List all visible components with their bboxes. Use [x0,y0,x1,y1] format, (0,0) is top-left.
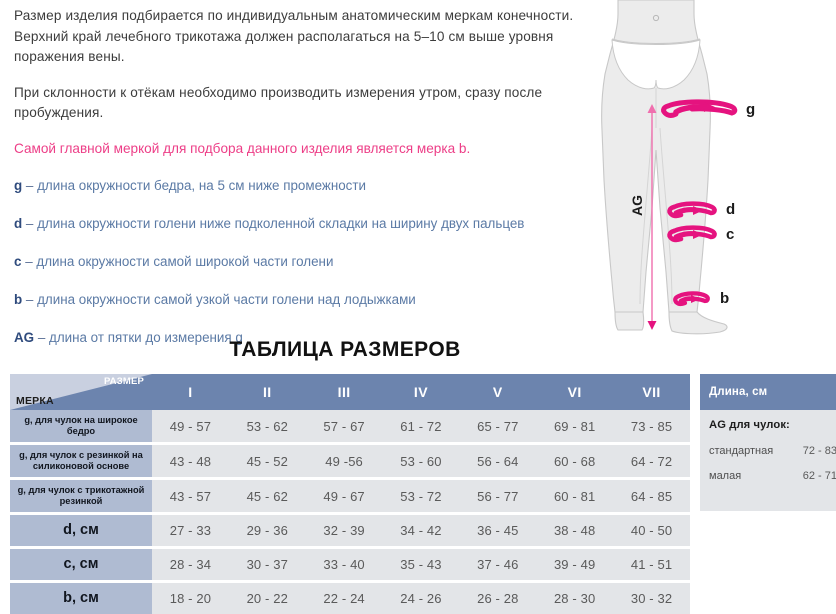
table-cell: 39 - 49 [536,549,613,580]
definition-key-g: g [14,178,22,193]
table-cell: 28 - 30 [536,583,613,614]
figure-label-c: c [726,226,734,243]
table-cell: 22 - 24 [306,583,383,614]
length-side-panel: Длина, см AG для чулок: стандартная 72 -… [700,374,836,511]
side-panel-title: AG для чулок: [709,419,836,431]
figure-label-b: b [720,290,729,307]
table-cell: 38 - 48 [536,515,613,546]
table-cell: 56 - 64 [459,445,536,477]
intro-paragraph-2: При склонности к отёкам необходимо произ… [14,83,614,124]
column-header-5: V [459,374,536,410]
side-panel-body: AG для чулок: стандартная 72 - 83 малая … [700,410,836,511]
corner-size-label: РАЗМЕР [104,376,144,387]
row-label: g, для чулок на широкое бедро [10,410,152,442]
table-cell: 37 - 46 [459,549,536,580]
table-cell: 69 - 81 [536,410,613,442]
column-header-2: II [229,374,306,410]
leg-measurement-diagram: g d c b AG [596,0,836,340]
definition-text-b: длина окружности самой узкой части голен… [37,292,416,307]
definition-dash-d: – [26,216,33,231]
side-row-value: 72 - 83 [803,445,836,457]
rear-foot-shape [615,312,644,330]
table-cell: 53 - 60 [383,445,460,477]
key-measurement-highlight: Самой главной меркой для подбора данного… [14,139,614,159]
definition-key-b: b [14,292,22,307]
table-row: g, для чулок с резинкой на силиконовой о… [10,445,690,477]
table-cell: 34 - 42 [383,515,460,546]
table-cell: 56 - 77 [459,480,536,512]
column-header-4: IV [383,374,460,410]
table-cell: 49 - 67 [306,480,383,512]
table-cell: 18 - 20 [152,583,229,614]
column-header-6: VI [536,374,613,410]
table-cell: 33 - 40 [306,549,383,580]
table-cell: 73 - 85 [613,410,690,442]
table-header-row: РАЗМЕР МЕРКА I II III IV V VI VII [10,374,690,410]
table-cell: 64 - 85 [613,480,690,512]
instructions-text-column: Размер изделия подбирается по индивидуал… [14,6,614,366]
table-cell: 57 - 67 [306,410,383,442]
table-row: c, см 28 - 34 30 - 37 33 - 40 35 - 43 37… [10,549,690,580]
table-cell: 60 - 81 [536,480,613,512]
column-header-1: I [152,374,229,410]
side-panel-header: Длина, см [700,374,836,410]
table-cell: 41 - 51 [613,549,690,580]
table-cell: 65 - 77 [459,410,536,442]
side-panel-row: малая 62 - 71 [709,470,836,482]
row-label: b, см [10,583,152,614]
definition-key-d: d [14,216,22,231]
definition-item-b: b – длина окружности самой узкой части г… [14,290,614,309]
table-cell: 40 - 50 [613,515,690,546]
figure-label-g: g [746,101,755,118]
table-cell: 32 - 39 [306,515,383,546]
definition-text-g: длина окружности бедра, на 5 см ниже про… [37,178,366,193]
table-cell: 45 - 52 [229,445,306,477]
table-cell: 45 - 62 [229,480,306,512]
definition-dash-g: – [26,178,33,193]
definition-dash-b: – [26,292,33,307]
table-cell: 64 - 72 [613,445,690,477]
table-row: d, см 27 - 33 29 - 36 32 - 39 34 - 42 36… [10,515,690,546]
table-cell: 43 - 48 [152,445,229,477]
body-silhouette [602,0,727,334]
table-cell: 26 - 28 [459,583,536,614]
row-label: g, для чулок с резинкой на силиконовой о… [10,445,152,477]
definition-dash-c: – [25,254,32,269]
table-cell: 35 - 43 [383,549,460,580]
table-cell: 28 - 34 [152,549,229,580]
definition-item-d: d – длина окружности голени ниже подколе… [14,214,614,233]
table-cell: 49 -56 [306,445,383,477]
table-cell: 53 - 62 [229,410,306,442]
definition-item-c: c – длина окружности самой широкой части… [14,252,614,271]
front-foot-shape [669,312,727,334]
table-cell: 53 - 72 [383,480,460,512]
table-cell: 30 - 37 [229,549,306,580]
definition-text-d: длина окружности голени ниже подколенной… [37,216,524,231]
figure-label-ag: AG [629,195,645,216]
intro-paragraph-1: Размер изделия подбирается по индивидуал… [14,6,614,68]
side-row-name: стандартная [709,445,773,457]
table-row: g, для чулок на широкое бедро 49 - 57 53… [10,410,690,442]
corner-measure-label: МЕРКА [16,395,54,407]
row-label: c, см [10,549,152,580]
column-header-3: III [306,374,383,410]
side-panel-row: стандартная 72 - 83 [709,445,836,457]
instructions-section: Размер изделия подбирается по индивидуал… [0,0,836,336]
table-cell: 49 - 57 [152,410,229,442]
table-row: g, для чулок с трикотажной резинкой 43 -… [10,480,690,512]
figure-label-d: d [726,201,735,218]
table-cell: 43 - 57 [152,480,229,512]
table-cell: 29 - 36 [229,515,306,546]
side-row-value: 62 - 71 [803,470,836,482]
size-table-title: ТАБЛИЦА РАЗМЕРОВ [0,338,690,362]
table-corner-header: РАЗМЕР МЕРКА [10,374,152,410]
table-cell: 60 - 68 [536,445,613,477]
table-cell: 36 - 45 [459,515,536,546]
table-cell: 24 - 26 [383,583,460,614]
table-cell: 27 - 33 [152,515,229,546]
size-table: РАЗМЕР МЕРКА I II III IV V VI VII g, для… [10,374,690,614]
table-cell: 61 - 72 [383,410,460,442]
row-label: d, см [10,515,152,546]
column-header-7: VII [613,374,690,410]
side-row-name: малая [709,470,741,482]
definition-text-c: длина окружности самой широкой части гол… [36,254,333,269]
definition-key-c: c [14,254,21,269]
table-cell: 30 - 32 [613,583,690,614]
row-label: g, для чулок с трикотажной резинкой [10,480,152,512]
table-cell: 20 - 22 [229,583,306,614]
table-row: b, см 18 - 20 20 - 22 22 - 24 24 - 26 26… [10,583,690,614]
definition-item-g: g – длина окружности бедра, на 5 см ниже… [14,176,614,195]
